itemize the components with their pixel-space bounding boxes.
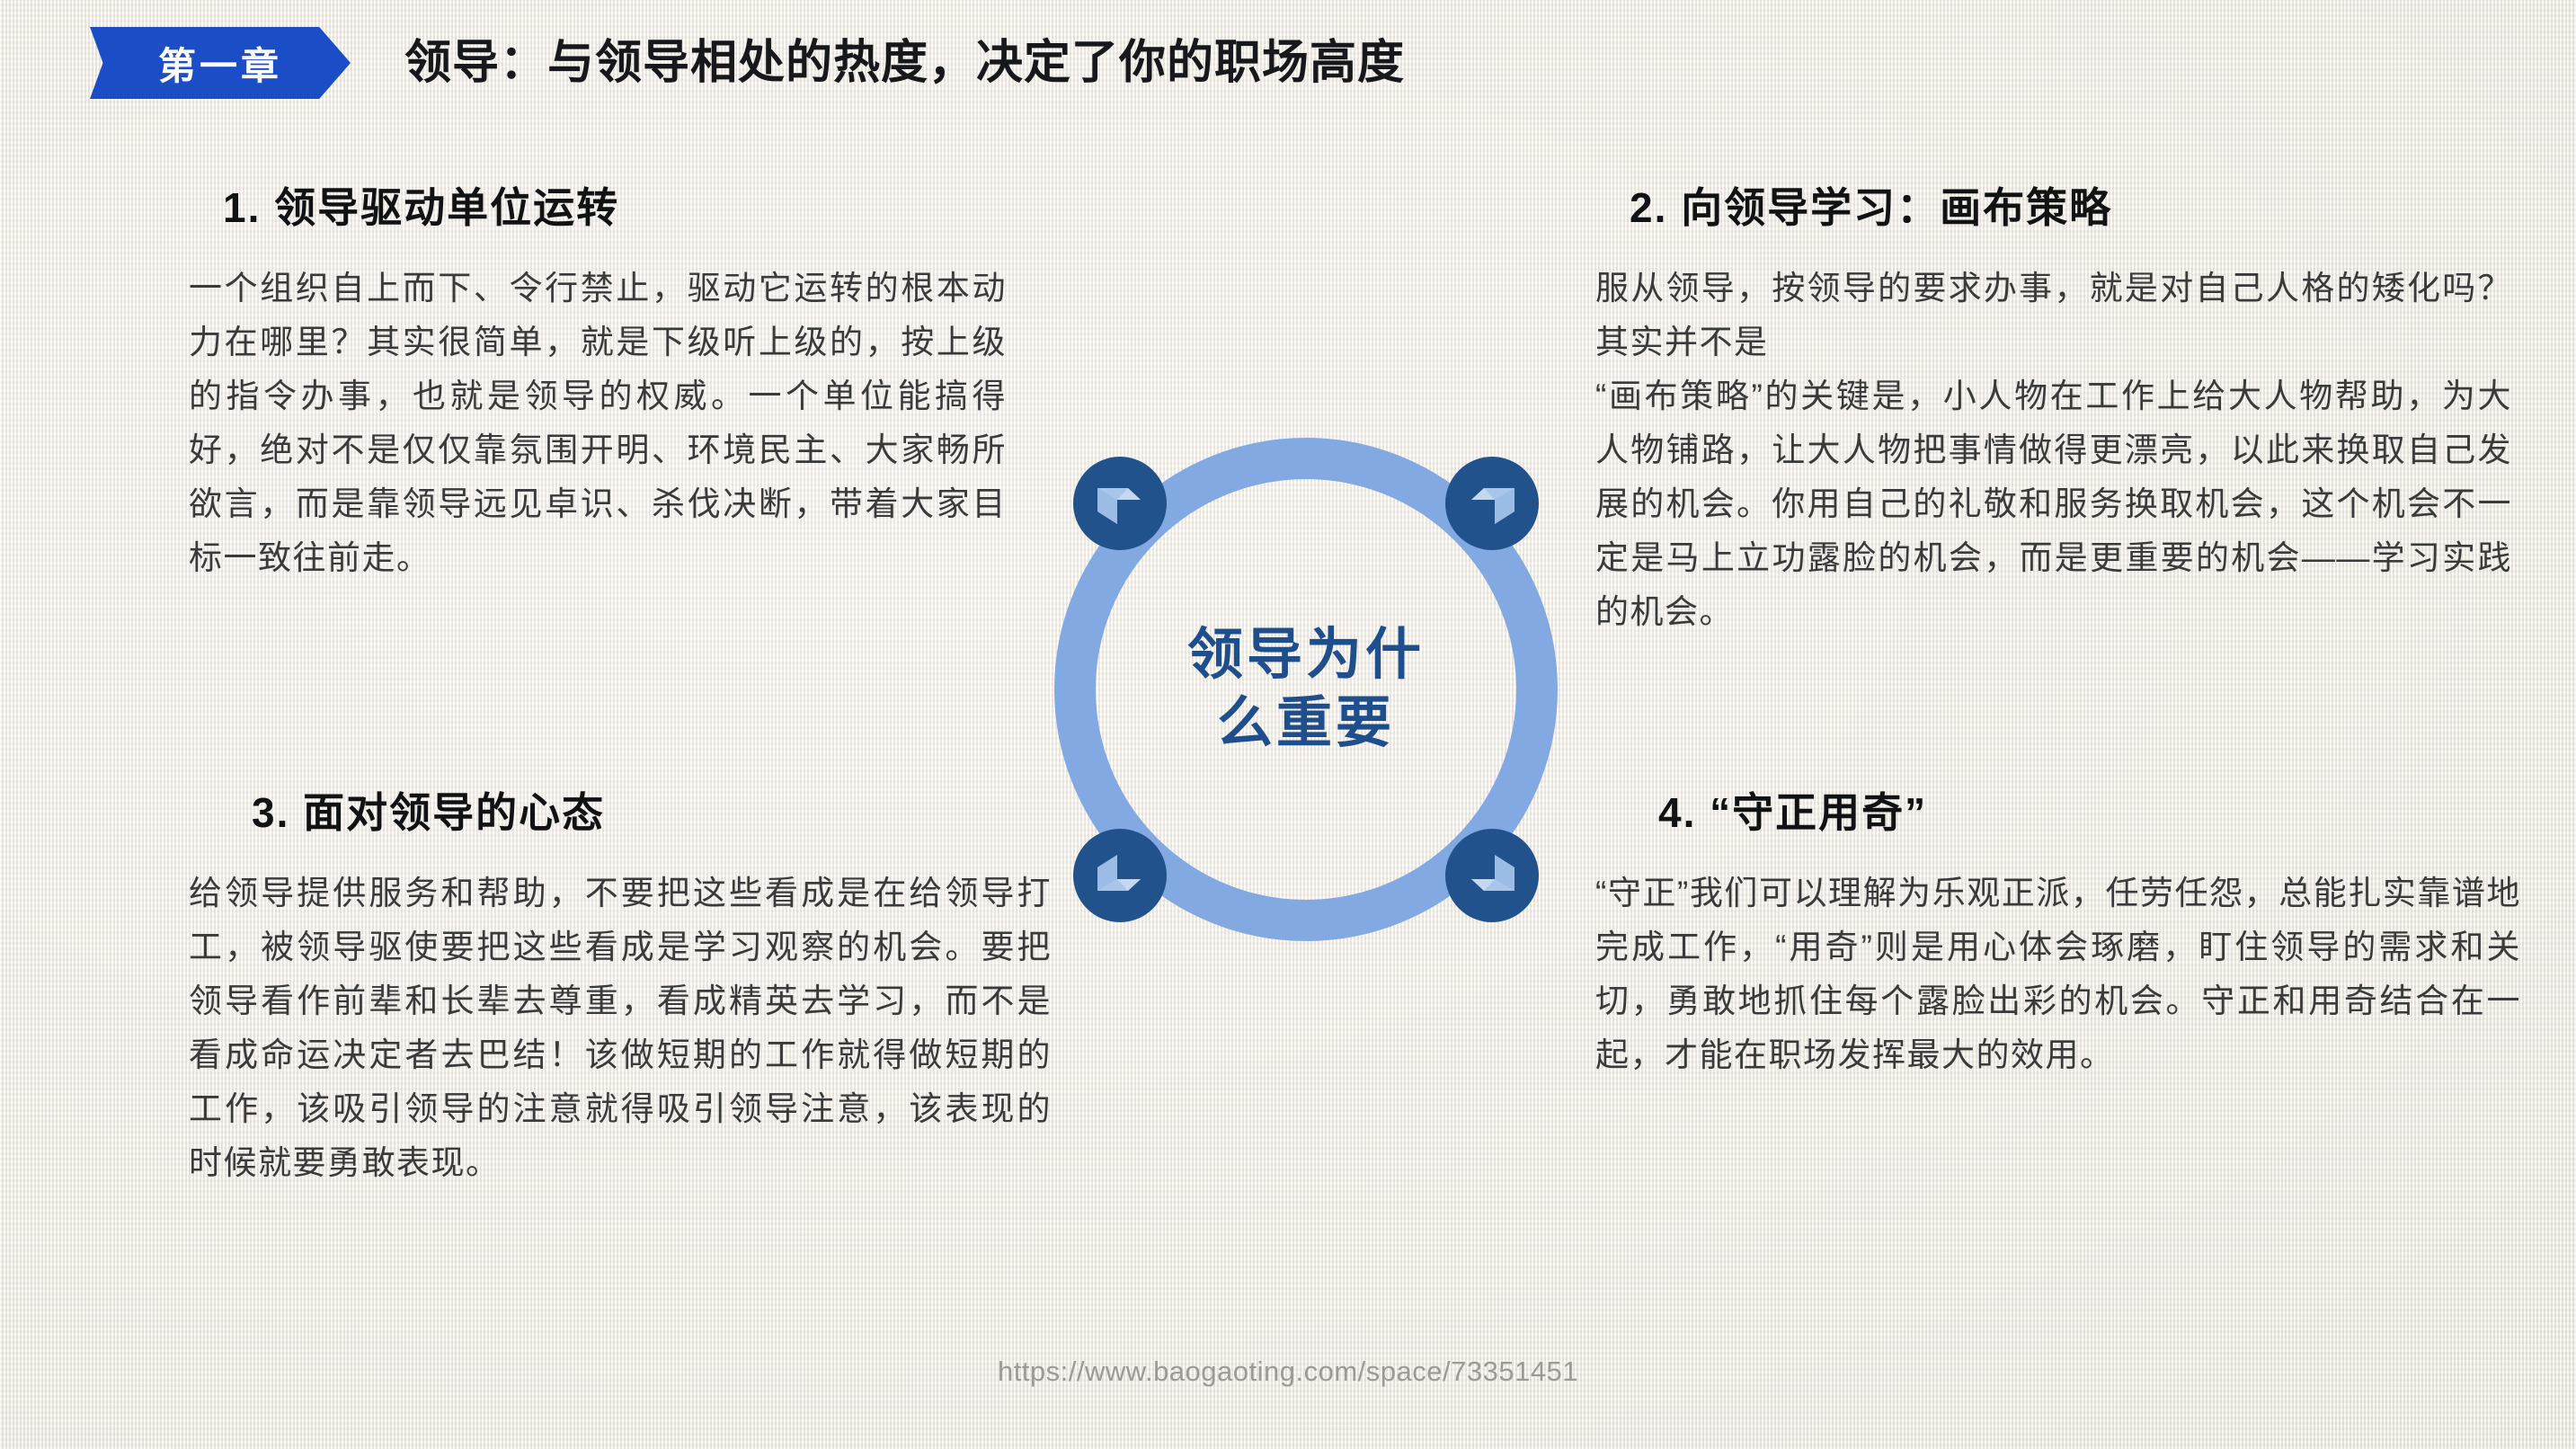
corner-arrow-down-left-icon: [1092, 848, 1148, 903]
diagram-node-north-west[interactable]: [1073, 457, 1167, 550]
section-block-2: 2. 向领导学习：画布策略 服从领导，按领导的要求办事，就是对自己人格的矮化吗？…: [1595, 175, 2512, 639]
corner-arrow-up-left-icon: [1092, 476, 1148, 531]
section-heading-4: 4. “守正用奇”: [1658, 780, 2521, 840]
diagram-node-north-east[interactable]: [1445, 457, 1539, 550]
diagram-center-line-2: 么重要: [1217, 689, 1395, 758]
section-body-2: 服从领导，按领导的要求办事，就是对自己人格的矮化吗？其实并不是 “画布策略”的关…: [1595, 262, 2512, 639]
section-body-3: 给领导提供服务和帮助，不要把这些看成是在给领导打工，被领导驱使要把这些看成是学习…: [189, 867, 1052, 1190]
section-block-1: 1. 领导驱动单位运转 一个组织自上而下、令行禁止，驱动它运转的根本动力在哪里？…: [189, 175, 1007, 585]
section-body-1: 一个组织自上而下、令行禁止，驱动它运转的根本动力在哪里？其实很简单，就是下级听上…: [189, 262, 1007, 585]
section-heading-2: 2. 向领导学习：画布策略: [1630, 175, 2512, 235]
diagram-node-south-west[interactable]: [1073, 829, 1167, 922]
corner-arrow-up-right-icon: [1464, 476, 1520, 531]
chapter-badge: 第一章: [90, 27, 351, 99]
section-heading-1: 1. 领导驱动单位运转: [223, 175, 1007, 235]
page-title: 领导：与领导相处的热度，决定了你的职场高度: [404, 20, 1405, 106]
section-heading-3: 3. 面对领导的心态: [252, 780, 1052, 840]
section-block-4: 4. “守正用奇” “守正”我们可以理解为乐观正派，任劳任怨，总能扎实靠谱地完成…: [1595, 780, 2521, 1082]
section-block-3: 3. 面对领导的心态 给领导提供服务和帮助，不要把这些看成是在给领导打工，被领导…: [189, 780, 1052, 1190]
diagram-node-south-east[interactable]: [1445, 829, 1539, 922]
footer-source-url[interactable]: https://www.baogaoting.com/space/7335145…: [0, 1356, 2576, 1388]
slide-header: 第一章 领导：与领导相处的热度，决定了你的职场高度: [0, 20, 2576, 106]
central-circle-diagram: 领导为什 么重要: [1054, 438, 1558, 941]
section-body-4: “守正”我们可以理解为乐观正派，任劳任怨，总能扎实靠谱地完成工作，“用奇”则是用…: [1595, 867, 2521, 1082]
diagram-center-line-1: 领导为什: [1187, 621, 1425, 689]
corner-arrow-down-right-icon: [1464, 848, 1520, 903]
slide-stage: 第一章 领导：与领导相处的热度，决定了你的职场高度 1. 领导驱动单位运转 一个…: [0, 0, 2576, 1449]
